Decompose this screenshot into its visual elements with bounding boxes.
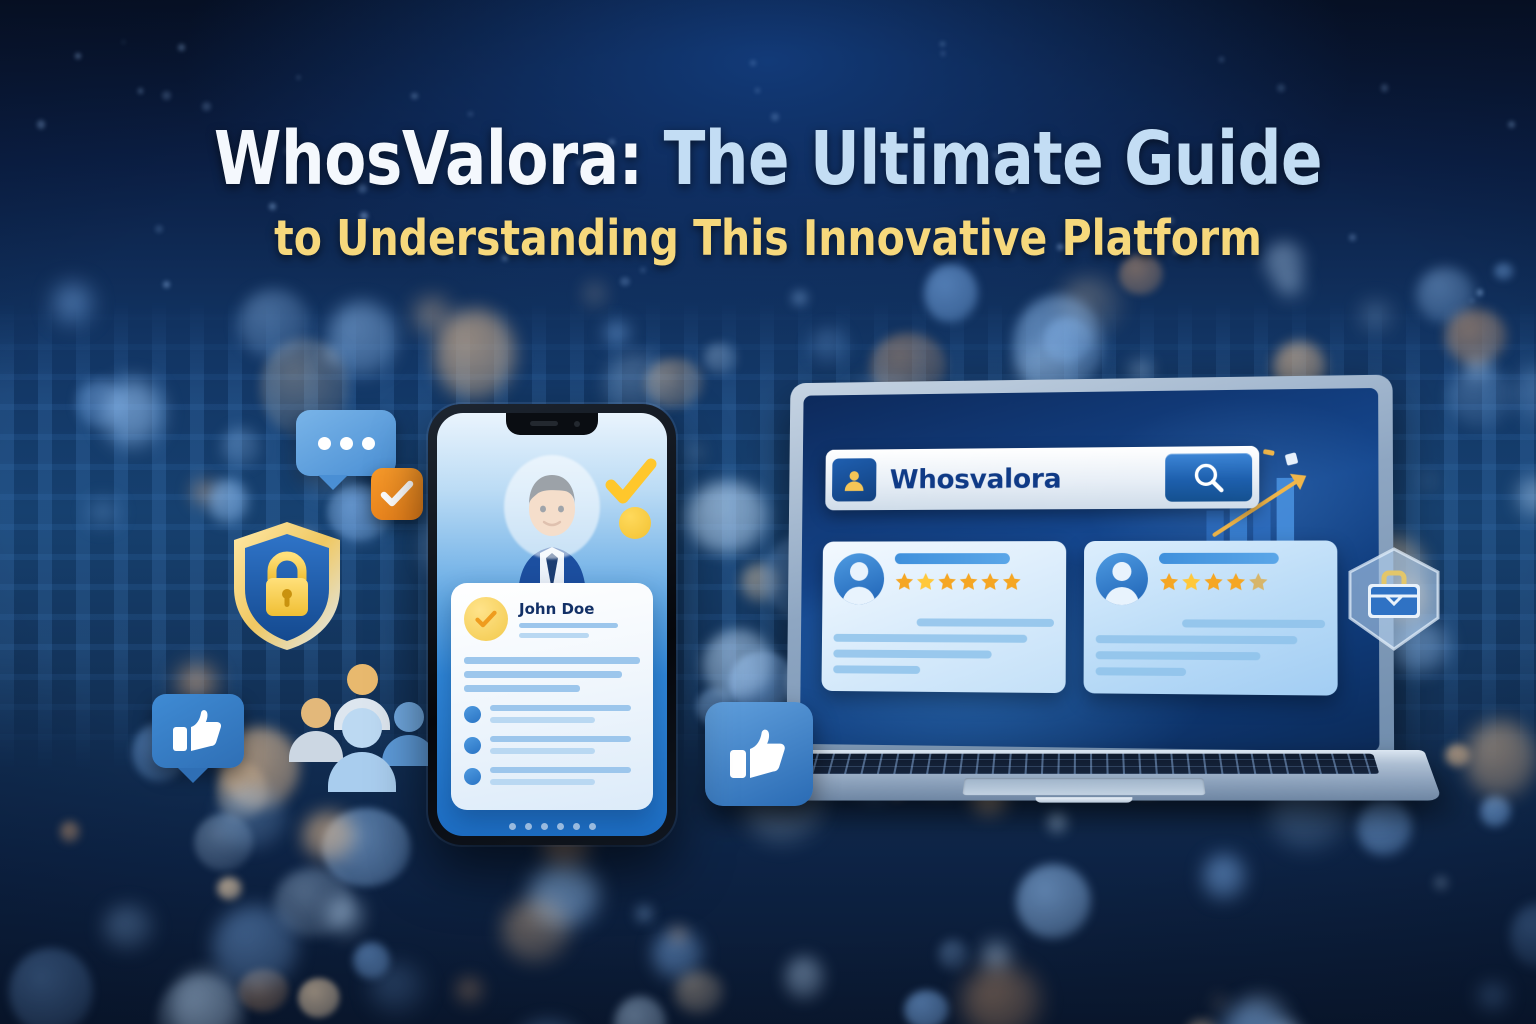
phone-screen[interactable]: John Doe — [437, 413, 667, 836]
profile-summary-skeleton — [464, 657, 640, 692]
rating-stars[interactable] — [1159, 572, 1325, 591]
result-name-bar — [1159, 553, 1279, 564]
result-name-bar — [895, 553, 1010, 564]
keyboard[interactable] — [778, 754, 1379, 774]
star-icon — [895, 572, 915, 591]
search-button[interactable] — [1165, 453, 1252, 502]
person-silhouette — [328, 708, 396, 792]
star-icon — [1226, 572, 1246, 591]
check-square-icon[interactable] — [371, 468, 423, 520]
list-item[interactable] — [464, 767, 640, 785]
profile-card-header: John Doe — [464, 597, 640, 641]
laptop-screen[interactable]: Whosvalora — [800, 388, 1380, 752]
result-card[interactable] — [821, 541, 1066, 693]
star-icon — [980, 572, 1000, 591]
briefcase-badge-icon[interactable] — [1346, 546, 1442, 652]
profile-detail-list — [464, 705, 640, 785]
accent-dot-icon — [619, 507, 651, 539]
contact-card-icon — [832, 458, 876, 501]
profile-name: John Doe — [519, 600, 640, 618]
shield-lock-icon[interactable] — [228, 518, 346, 654]
bullet-dot-icon — [464, 706, 481, 723]
lid-latch-notch — [1035, 797, 1132, 802]
person-avatar-icon — [1096, 553, 1148, 605]
thumbs-up-bubble-icon[interactable] — [152, 694, 244, 768]
search-icon — [1191, 460, 1225, 494]
bullet-dot-icon — [464, 768, 481, 785]
star-icon — [937, 572, 957, 591]
star-icon — [1203, 572, 1223, 591]
people-group-icon — [286, 664, 436, 774]
star-icon — [1248, 572, 1268, 591]
page-subtitle: to Understanding This Innovative Platfor… — [54, 214, 1482, 263]
phone-indicator-dots — [437, 823, 667, 830]
bullet-dot-icon — [464, 737, 481, 754]
page-title-secondary: The Ultimate Guide — [664, 116, 1323, 202]
check-mark-icon — [603, 457, 659, 509]
hero-banner: WhosValora: The Ultimate Guide to Unders… — [0, 0, 1536, 1024]
thumbs-up-square-icon[interactable] — [705, 702, 813, 806]
star-icon — [1002, 572, 1022, 591]
profile-card[interactable]: John Doe — [451, 583, 653, 810]
list-item[interactable] — [464, 705, 640, 723]
search-bar[interactable]: Whosvalora — [825, 446, 1259, 510]
page-title: WhosValora: The Ultimate Guide — [61, 122, 1474, 196]
avatar-halo — [504, 455, 600, 559]
laptop-lid: Whosvalora — [786, 375, 1394, 769]
laptop-mockup[interactable]: Whosvalora — [744, 378, 1424, 848]
typing-dot-icon — [318, 437, 331, 450]
search-input[interactable]: Whosvalora — [876, 462, 1165, 495]
laptop-base — [726, 750, 1443, 801]
headline-block: WhosValora: The Ultimate Guide to Unders… — [0, 122, 1536, 263]
star-icon — [959, 572, 979, 591]
check-badge-icon — [464, 597, 508, 641]
star-icon — [916, 572, 936, 591]
profile-photo — [498, 449, 606, 599]
rating-stars[interactable] — [895, 572, 1055, 591]
smartphone-mockup[interactable]: John Doe — [428, 404, 676, 845]
page-title-primary: WhosValora: — [214, 116, 643, 202]
typing-dot-icon — [340, 437, 353, 450]
result-card[interactable] — [1084, 540, 1338, 695]
typing-dot-icon — [362, 437, 375, 450]
person-avatar-icon — [834, 553, 884, 604]
list-item[interactable] — [464, 736, 640, 754]
trackpad[interactable] — [962, 778, 1205, 795]
star-icon — [1159, 572, 1179, 591]
chat-bubble-icon[interactable] — [296, 410, 396, 476]
phone-notch — [506, 413, 598, 435]
star-icon — [1181, 572, 1201, 591]
